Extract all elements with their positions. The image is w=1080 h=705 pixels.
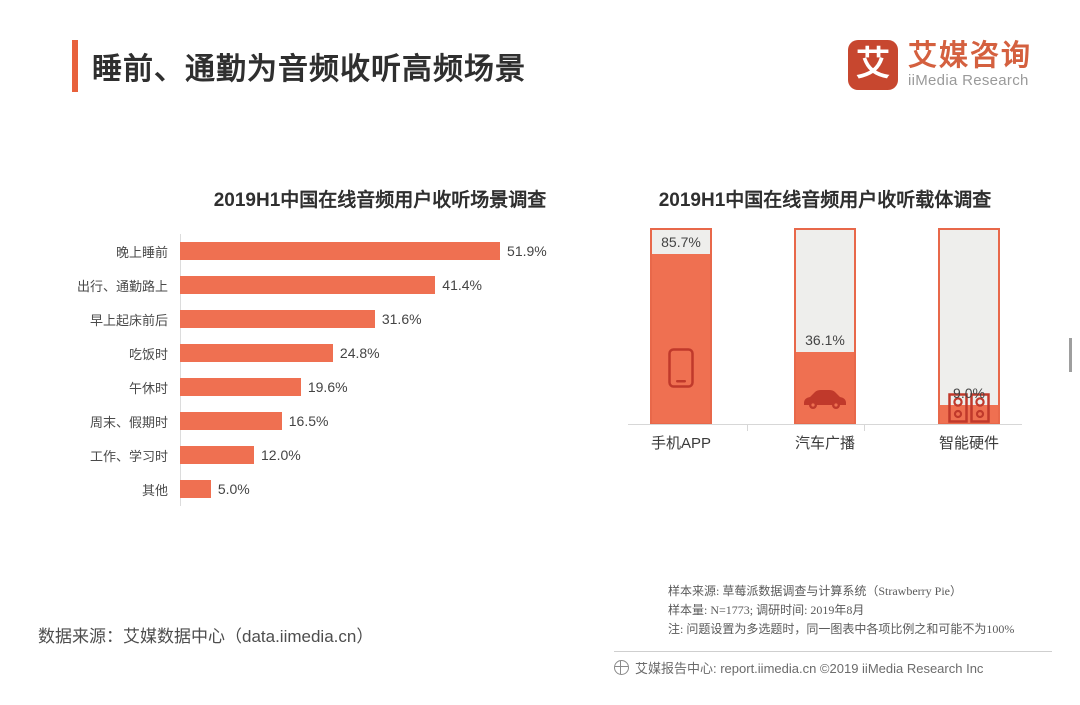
chart-title-left: 2019H1中国在线音频用户收听场景调查 xyxy=(120,185,640,212)
logo-mark-icon: 艾 xyxy=(848,40,898,90)
bar-category-label: 吃饭时 xyxy=(60,344,180,363)
bar-track: 24.8% xyxy=(180,336,640,370)
page-header: 睡前、通勤为音频收听高频场景 艾 艾媒咨询 iiMedia Research xyxy=(0,0,1080,130)
bar-value-label: 12.0% xyxy=(261,447,301,463)
bar-track: 5.0% xyxy=(180,472,640,506)
bar-category-label: 周末、假期时 xyxy=(60,412,180,431)
column-track xyxy=(650,228,712,425)
axis-tick xyxy=(747,424,748,431)
bar-fill xyxy=(180,412,282,430)
column-label-list: 手机APP汽车广播智能硬件 xyxy=(650,432,1000,453)
bar-fill xyxy=(180,344,333,362)
column-category-label: 汽车广播 xyxy=(794,432,856,453)
page-edge-marker xyxy=(1069,338,1072,372)
bar-fill xyxy=(180,480,211,498)
bar-fill xyxy=(180,446,254,464)
value-axis-line xyxy=(628,424,1022,425)
bar-value-label: 31.6% xyxy=(382,311,422,327)
bar-value-label: 51.9% xyxy=(507,243,547,259)
bar-fill xyxy=(180,310,375,328)
page-title: 睡前、通勤为音频收听高频场景 xyxy=(92,44,526,88)
bar-fill xyxy=(180,242,500,260)
bar-value-label: 16.5% xyxy=(289,413,329,429)
bar-row: 工作、学习时12.0% xyxy=(60,438,640,472)
bar-category-label: 出行、通勤路上 xyxy=(60,276,180,295)
globe-icon xyxy=(614,660,629,675)
car-icon xyxy=(794,387,856,409)
bar-category-label: 其他 xyxy=(60,480,180,499)
bar-category-label: 早上起床前后 xyxy=(60,310,180,329)
bar-row: 午休时19.6% xyxy=(60,370,640,404)
column-list: 85.7%36.1%9.0% xyxy=(650,228,1000,425)
bar-fill xyxy=(180,378,301,396)
bar-row: 晚上睡前51.9% xyxy=(60,234,640,268)
note-sample-source: 样本来源: 草莓派数据调查与计算系统（Strawberry Pie） xyxy=(668,582,1068,601)
logo-name-en: iiMedia Research xyxy=(908,73,1032,89)
logo-text: 艾媒咨询 iiMedia Research xyxy=(908,41,1032,88)
bar-category-label: 工作、学习时 xyxy=(60,446,180,465)
bar-value-label: 19.6% xyxy=(308,379,348,395)
chart-title-right: 2019H1中国在线音频用户收听载体调查 xyxy=(610,185,1040,212)
bar-track: 16.5% xyxy=(180,404,640,438)
bar-track: 41.4% xyxy=(180,268,640,302)
column-fill xyxy=(652,254,710,423)
column-category-label: 智能硬件 xyxy=(938,432,1000,453)
bar-value-label: 5.0% xyxy=(218,481,250,497)
bar-fill xyxy=(180,276,435,294)
footer-bar: 艾媒报告中心: report.iimedia.cn ©2019 iiMedia … xyxy=(614,658,983,677)
footer-text: 艾媒报告中心: report.iimedia.cn ©2019 iiMedia … xyxy=(635,658,983,677)
axis-tick xyxy=(864,424,865,431)
column-value-label: 85.7% xyxy=(650,234,712,250)
column-item: 36.1% xyxy=(794,228,856,425)
bar-category-label: 午休时 xyxy=(60,378,180,397)
note-multiselect: 注: 问题设置为多选题时，同一图表中各项比例之和可能不为100% xyxy=(668,620,1068,639)
bar-row: 出行、通勤路上41.4% xyxy=(60,268,640,302)
bar-row: 周末、假期时16.5% xyxy=(60,404,640,438)
column-item: 9.0% xyxy=(938,228,1000,425)
bar-value-label: 24.8% xyxy=(340,345,380,361)
vertical-column-chart: 2019H1中国在线音频用户收听载体调查 85.7%36.1%9.0% 手机AP… xyxy=(610,185,1040,495)
phone-icon xyxy=(650,348,712,388)
bar-row: 其他5.0% xyxy=(60,472,640,506)
bar-category-label: 晚上睡前 xyxy=(60,242,180,261)
column-item: 85.7% xyxy=(650,228,712,425)
bar-list: 晚上睡前51.9%出行、通勤路上41.4%早上起床前后31.6%吃饭时24.8%… xyxy=(60,234,640,506)
column-category-label: 手机APP xyxy=(650,432,712,453)
footer-divider xyxy=(614,651,1052,652)
bar-track: 12.0% xyxy=(180,438,640,472)
bar-row: 吃饭时24.8% xyxy=(60,336,640,370)
bar-track: 51.9% xyxy=(180,234,640,268)
bar-track: 19.6% xyxy=(180,370,640,404)
bar-row: 早上起床前后31.6% xyxy=(60,302,640,336)
note-sample-size: 样本量: N=1773; 调研时间: 2019年8月 xyxy=(668,601,1068,620)
column-value-label: 36.1% xyxy=(794,332,856,348)
data-source-label: 数据来源：艾媒数据中心（data.iimedia.cn） xyxy=(38,622,373,647)
horizontal-bar-chart: 2019H1中国在线音频用户收听场景调查 晚上睡前51.9%出行、通勤路上41.… xyxy=(60,185,640,525)
column-value-label: 9.0% xyxy=(938,385,1000,401)
title-accent-bar xyxy=(72,40,78,92)
notes-block: 样本来源: 草莓派数据调查与计算系统（Strawberry Pie） 样本量: … xyxy=(668,582,1068,640)
brand-logo: 艾 艾媒咨询 iiMedia Research xyxy=(848,40,1032,90)
column-plot-area: 85.7%36.1%9.0% 手机APP汽车广播智能硬件 xyxy=(610,228,1040,453)
logo-name-cn: 艾媒咨询 xyxy=(908,41,1032,71)
bar-value-label: 41.4% xyxy=(442,277,482,293)
bar-track: 31.6% xyxy=(180,302,640,336)
